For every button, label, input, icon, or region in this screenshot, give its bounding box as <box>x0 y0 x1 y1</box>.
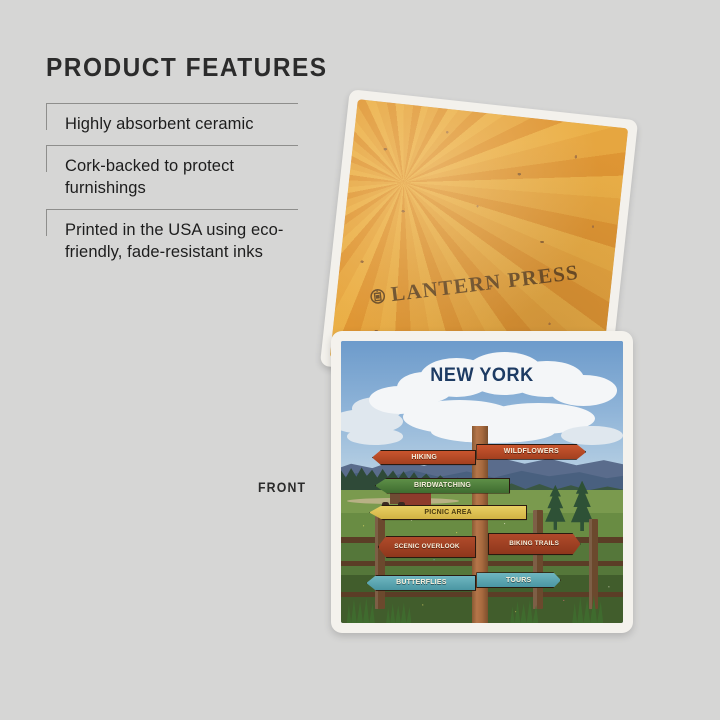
feature-item: Printed in the USA using eco-friendly, f… <box>46 209 298 273</box>
sign-birdwatching: BIRDWATCHING <box>375 478 510 494</box>
cloud <box>561 426 623 446</box>
feature-text: Cork-backed to protect furnishings <box>65 155 298 199</box>
product-features-panel: PRODUCT FEATURES Highly absorbent cerami… <box>46 52 298 273</box>
sign-biking-trails: BIKING TRAILS <box>488 533 581 556</box>
sign-wildflowers: WILDFLOWERS <box>476 444 586 460</box>
fence-post <box>589 519 598 609</box>
feature-text: Highly absorbent ceramic <box>65 113 298 135</box>
lantern-icon <box>369 287 386 306</box>
sign-tours: TOURS <box>476 572 561 588</box>
feature-item: Cork-backed to protect furnishings <box>46 145 298 209</box>
sign-hiking: HIKING <box>372 450 476 466</box>
sign-butterflies: BUTTERFLIES <box>366 575 476 591</box>
artwork-title: NEW YORK <box>348 365 616 387</box>
brand-text: LANTERN PRESS <box>390 260 581 307</box>
coaster-artwork: HIKING WILDFLOWERS BIRDWATCHING PICNIC A… <box>341 341 623 623</box>
fence-post <box>375 516 385 609</box>
front-label: FRONT <box>258 479 306 495</box>
feature-item: Highly absorbent ceramic <box>46 103 298 145</box>
cloud <box>431 420 555 443</box>
sign-scenic-overlook: SCENIC OVERLOOK <box>378 536 477 559</box>
sign-picnic-area: PICNIC AREA <box>369 505 527 521</box>
brand-mark: LANTERN PRESS <box>369 260 580 310</box>
page-title: PRODUCT FEATURES <box>46 52 283 83</box>
coaster-front: HIKING WILDFLOWERS BIRDWATCHING PICNIC A… <box>331 331 633 633</box>
feature-text: Printed in the USA using eco-friendly, f… <box>65 219 298 263</box>
fence-post <box>533 510 544 609</box>
